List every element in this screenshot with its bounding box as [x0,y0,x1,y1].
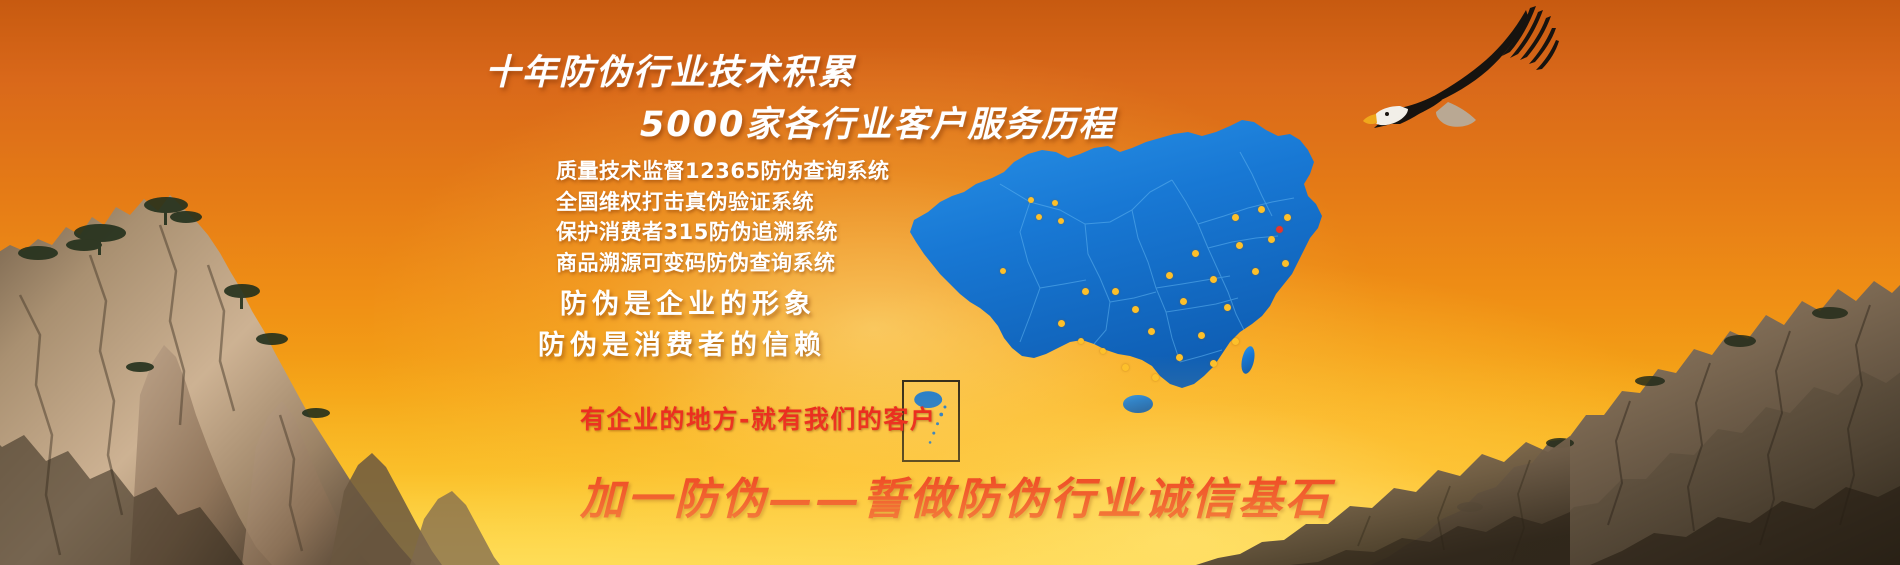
map-capital-dot [1276,226,1283,233]
map-city-dot [1058,320,1065,327]
map-city-dot [1036,214,1042,220]
map-city-dot [1152,374,1159,381]
map-city-dot [1058,218,1064,224]
map-city-dot [1284,214,1291,221]
map-city-dot [1082,288,1089,295]
map-city-dot [1052,200,1058,206]
map-city-dot [1224,304,1231,311]
map-city-dot [1252,268,1259,275]
map-city-dot [1148,328,1155,335]
map-city-dot [1192,250,1199,257]
mountain-rock-left [0,95,680,565]
promotional-banner: 十年防伪行业技术积累 5000家各行业客户服务历程 质量技术监督12365防伪查… [0,0,1900,565]
mountain-ridge-mid-right [1150,400,1570,565]
map-city-dot [1210,360,1217,367]
map-city-dot [1122,364,1129,371]
map-city-dot [1198,332,1205,339]
map-city-dot [1028,197,1034,203]
headline-line-1: 十年防伪行业技术积累 [485,44,855,95]
map-city-dot [1180,298,1187,305]
headline-line-2: 5000家各行业客户服务历程 [640,96,1115,147]
map-city-dot [1166,272,1173,279]
map-city-dot [1100,348,1106,354]
map-city-dot [1078,338,1084,344]
map-city-dot [1132,306,1139,313]
map-city-dot [1000,268,1006,274]
map-city-dot [1232,338,1239,345]
eagle-icon [1330,2,1560,137]
map-city-dot [1210,276,1217,283]
map-city-dot [1236,242,1243,249]
map-city-dot [1176,354,1183,361]
map-city-dot [1258,206,1265,213]
map-city-dot [1112,288,1119,295]
map-city-dot [1232,214,1239,221]
